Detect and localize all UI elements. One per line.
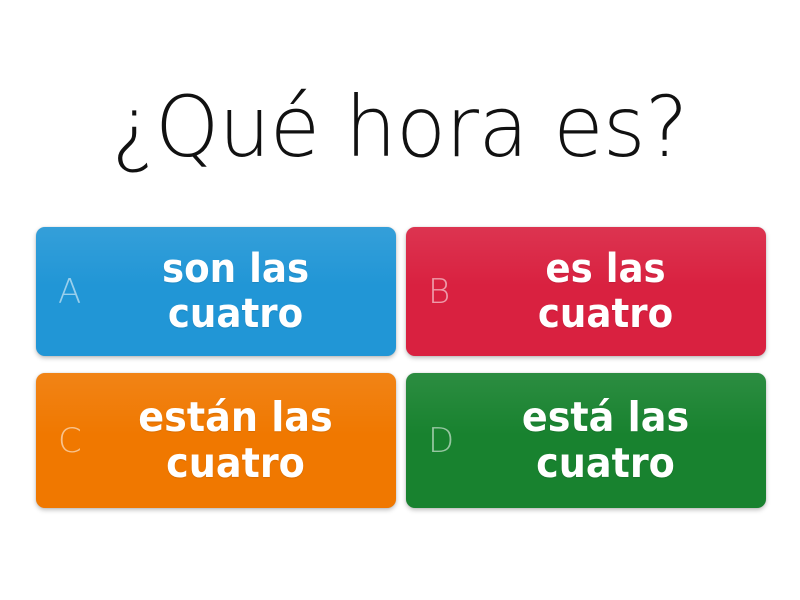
answer-card-c[interactable]: C están las cuatro xyxy=(36,373,396,508)
answer-card-d[interactable]: D está las cuatro xyxy=(406,373,766,508)
answer-card-a[interactable]: A son las cuatro xyxy=(36,227,396,356)
answer-text-d: está las cuatro xyxy=(419,395,754,487)
answer-text-c: están las cuatro xyxy=(49,395,384,487)
question-text: ¿Qué hora es? xyxy=(112,83,688,171)
answer-text-a: son las cuatro xyxy=(49,247,384,337)
answer-card-b[interactable]: B es las cuatro xyxy=(406,227,766,356)
quiz-container: ¿Qué hora es? A son las cuatro B es las … xyxy=(0,0,800,600)
answer-options-grid: A son las cuatro B es las cuatro C están… xyxy=(36,227,766,508)
answer-text-b: es las cuatro xyxy=(419,247,754,337)
question-area: ¿Qué hora es? xyxy=(0,52,800,202)
